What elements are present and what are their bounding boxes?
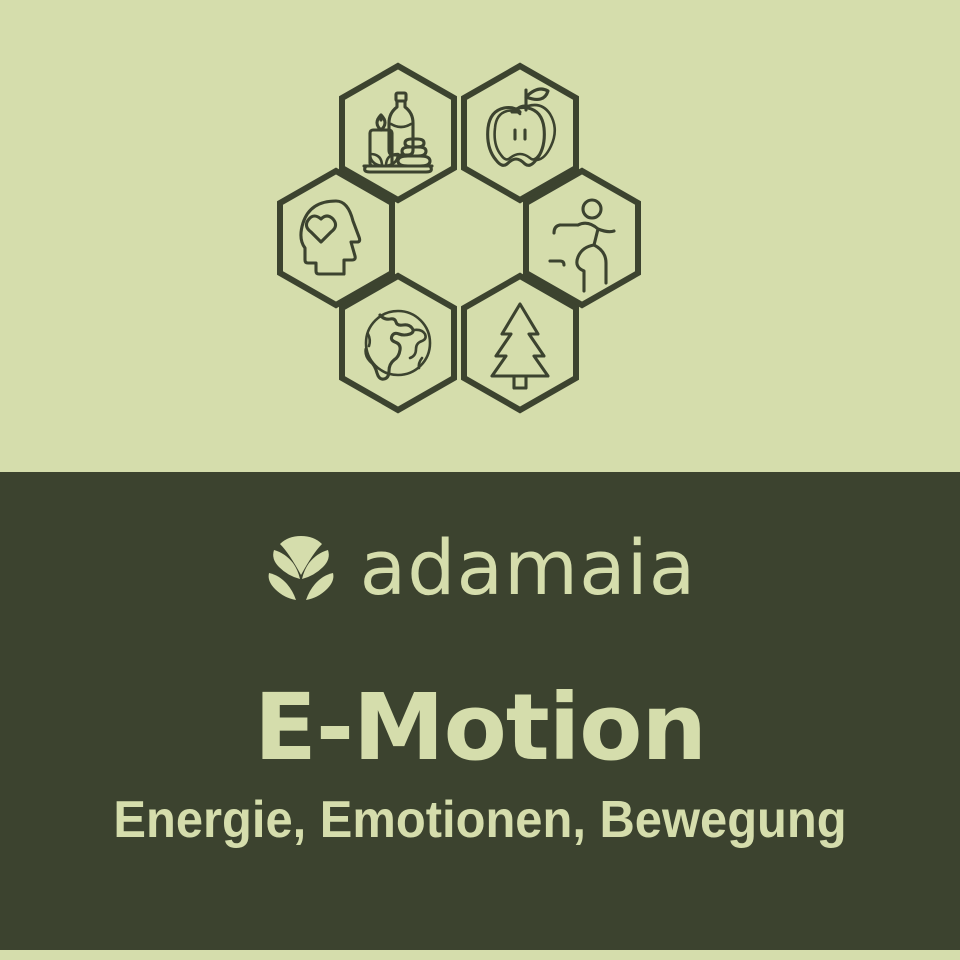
poster-canvas: adamaia E-Motion Energie, Emotionen, Bew… bbox=[0, 0, 960, 960]
brand-panel: adamaia E-Motion Energie, Emotionen, Bew… bbox=[0, 472, 960, 950]
hero-panel bbox=[0, 0, 960, 472]
globe-earth-icon bbox=[366, 311, 430, 379]
brand-lockup: adamaia bbox=[0, 530, 960, 606]
page-title: E-Motion bbox=[0, 682, 960, 774]
page-subtitle: Energie, Emotionen, Bewegung bbox=[29, 794, 931, 846]
hexagon-tile-nature bbox=[458, 272, 582, 414]
hexagon-tile-earth bbox=[336, 272, 460, 414]
brand-wordmark: adamaia bbox=[360, 530, 697, 606]
bottom-accent-rule bbox=[0, 950, 960, 960]
hexagon-icon-cluster bbox=[272, 62, 644, 414]
spa-candle-oil-stones-icon bbox=[364, 93, 432, 172]
head-with-heart-icon bbox=[301, 201, 360, 274]
pine-tree-icon bbox=[492, 304, 548, 388]
adamaia-leaf-circle-logo-icon bbox=[264, 531, 338, 605]
apple-nutrition-icon bbox=[488, 89, 555, 165]
